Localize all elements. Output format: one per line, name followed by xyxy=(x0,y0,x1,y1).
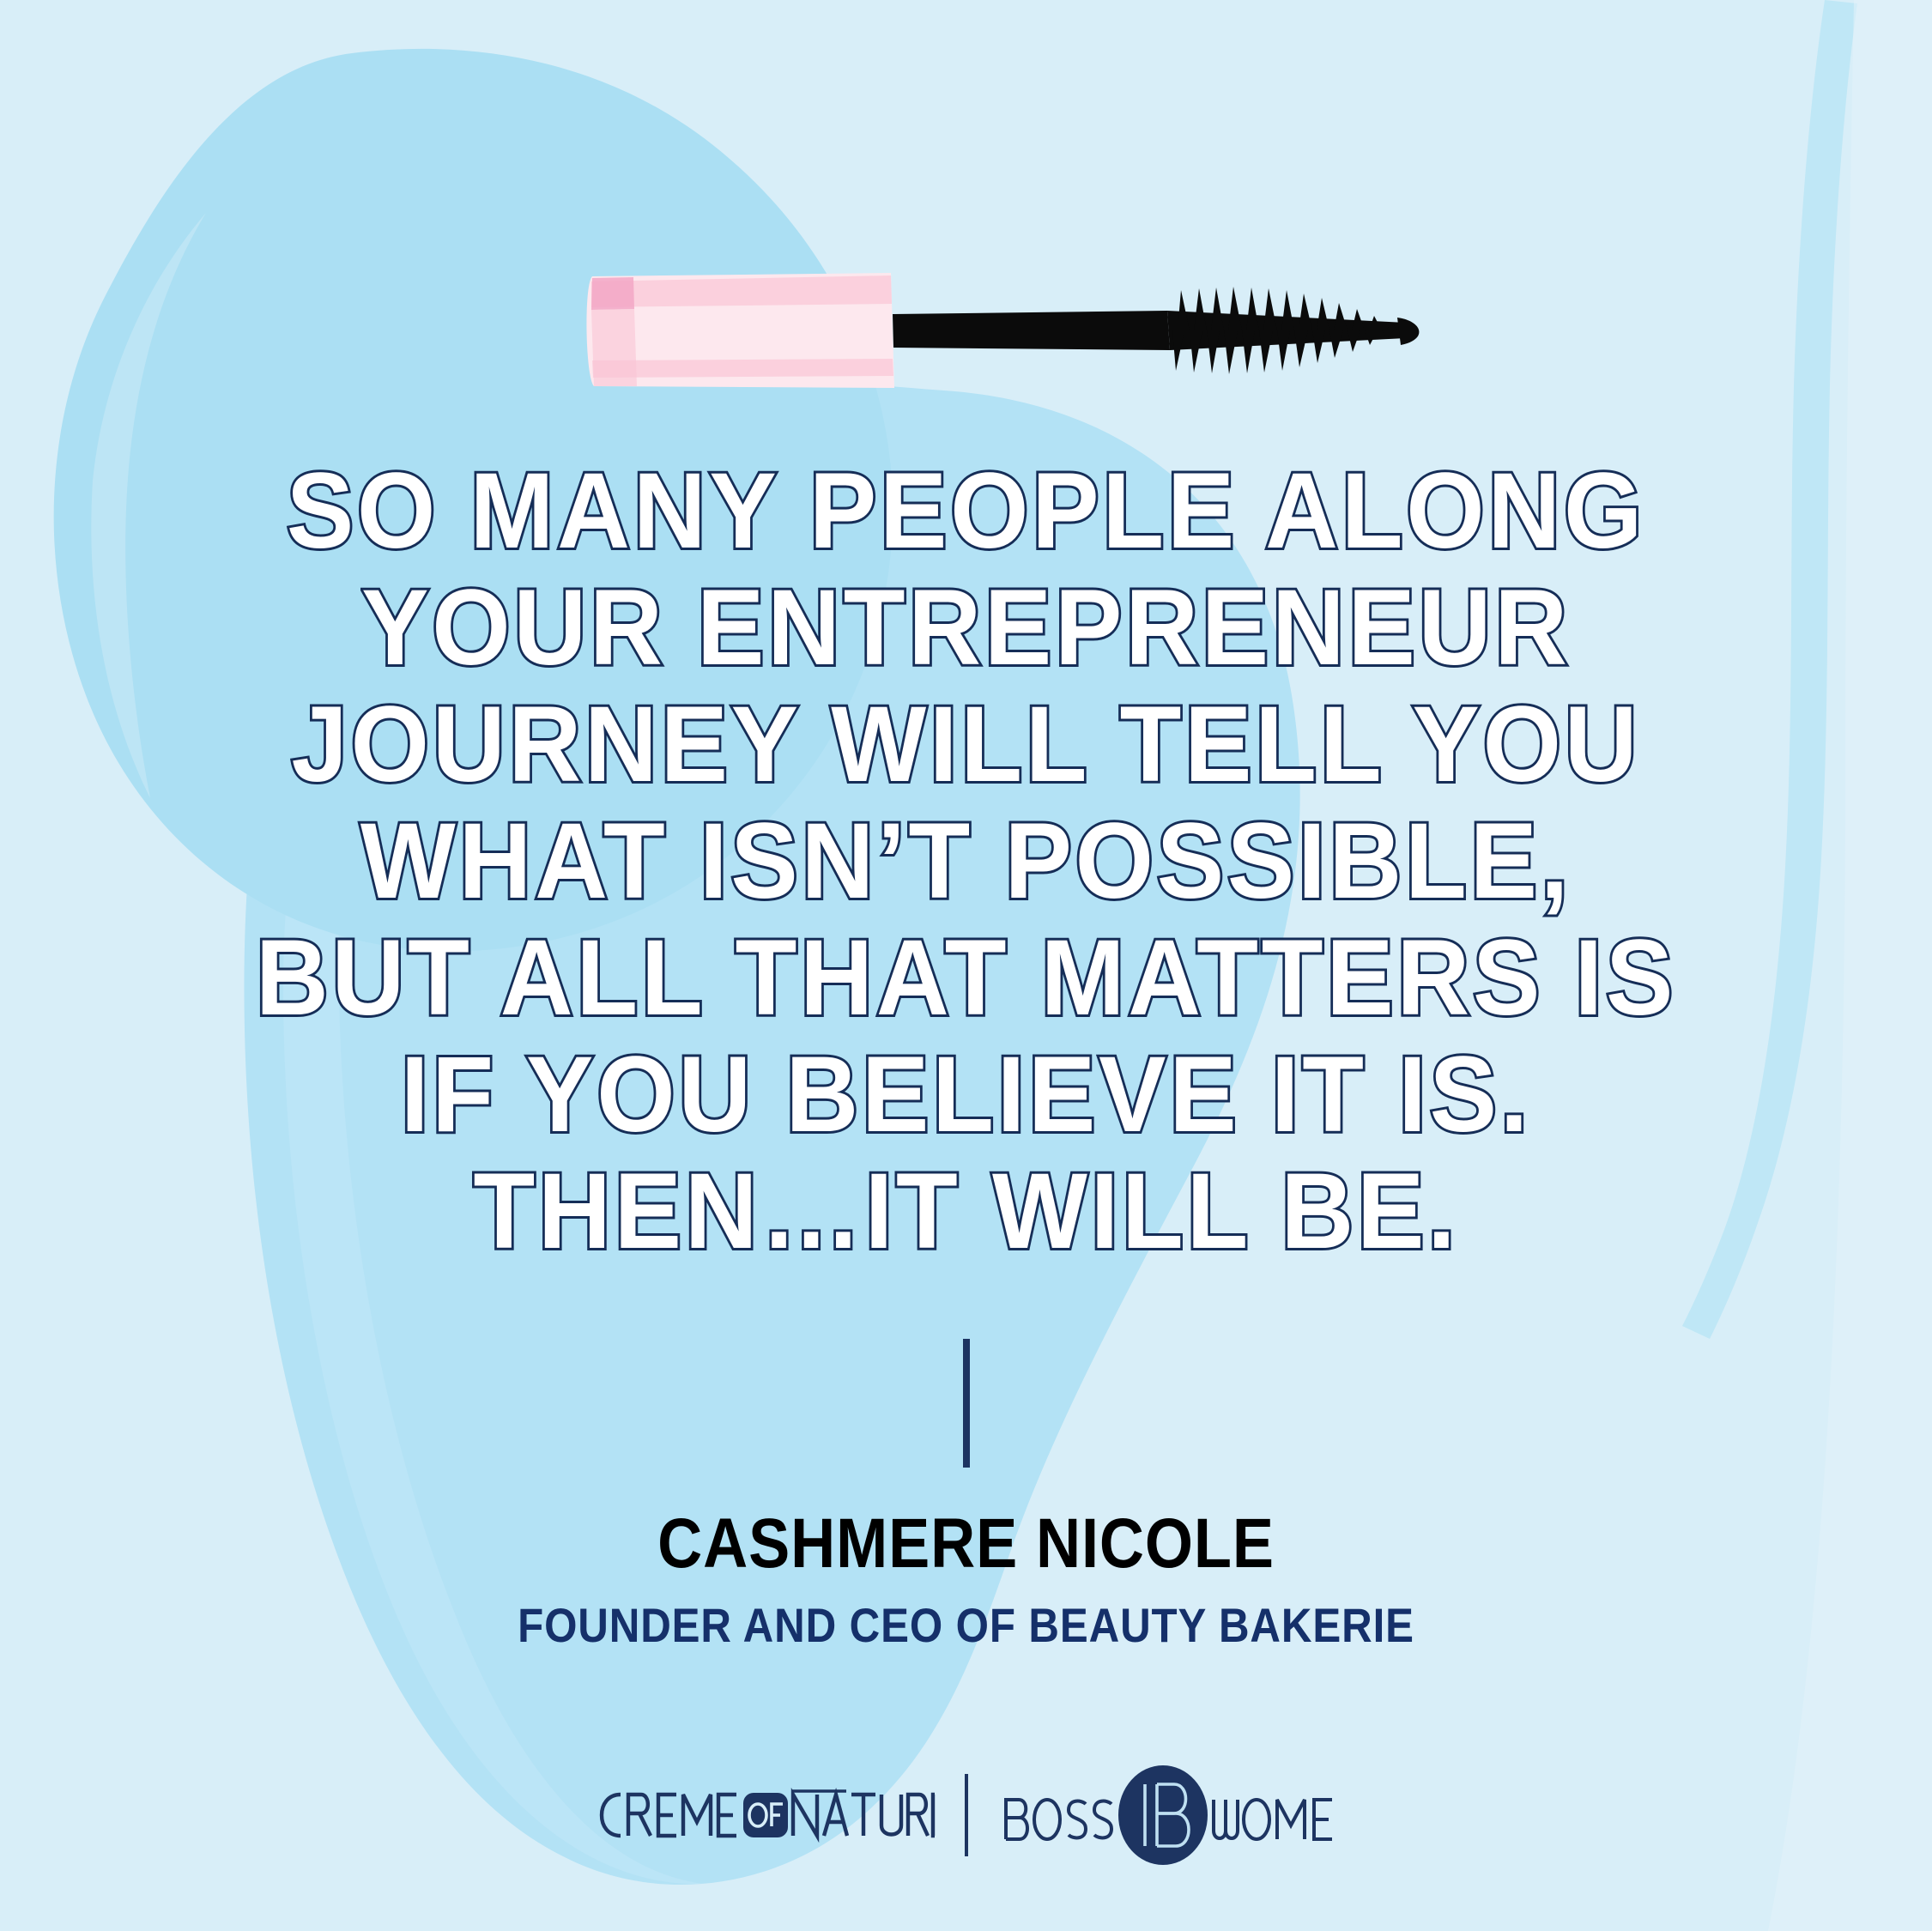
mascara-wand-icon xyxy=(566,249,1468,412)
boss-women-logo xyxy=(997,1764,1341,1867)
wand-cap-shadow xyxy=(591,277,634,310)
creme-of-nature-logo xyxy=(592,1772,936,1858)
quote-line: YOUR ENTREPRENEUR xyxy=(58,570,1874,687)
quote-line: THEN…IT WILL BE. xyxy=(58,1153,1874,1270)
logo-separator xyxy=(965,1774,968,1856)
quote-card: SO MANY PEOPLE ALONG YOUR ENTREPRENEUR J… xyxy=(0,0,1932,1931)
logo-lockup xyxy=(0,1764,1932,1867)
quote-line: WHAT ISN’T POSSIBLE, xyxy=(58,803,1874,920)
attribution-name: CASHMERE NICOLE xyxy=(116,1507,1816,1581)
attribution: CASHMERE NICOLE FOUNDER AND CEO OF BEAUT… xyxy=(0,1507,1932,1651)
quote-text: SO MANY PEOPLE ALONG YOUR ENTREPRENEUR J… xyxy=(0,453,1932,1270)
wand-brush xyxy=(1167,287,1419,374)
wand-stem xyxy=(893,311,1170,350)
boss-b-mark-circle xyxy=(1118,1765,1208,1865)
wand-cap-shadow-lower xyxy=(591,309,637,386)
quote-line: IF YOU BELIEVE IT IS. xyxy=(58,1037,1874,1153)
quote-line: SO MANY PEOPLE ALONG xyxy=(58,453,1874,570)
vertical-divider xyxy=(963,1339,970,1468)
attribution-role: FOUNDER AND CEO OF BEAUTY BAKERIE xyxy=(116,1600,1816,1651)
wand-cap-band-bottom xyxy=(592,359,893,378)
quote-line: JOURNEY WILL TELL YOU xyxy=(58,687,1874,803)
quote-line: BUT ALL THAT MATTERS IS xyxy=(58,920,1874,1037)
